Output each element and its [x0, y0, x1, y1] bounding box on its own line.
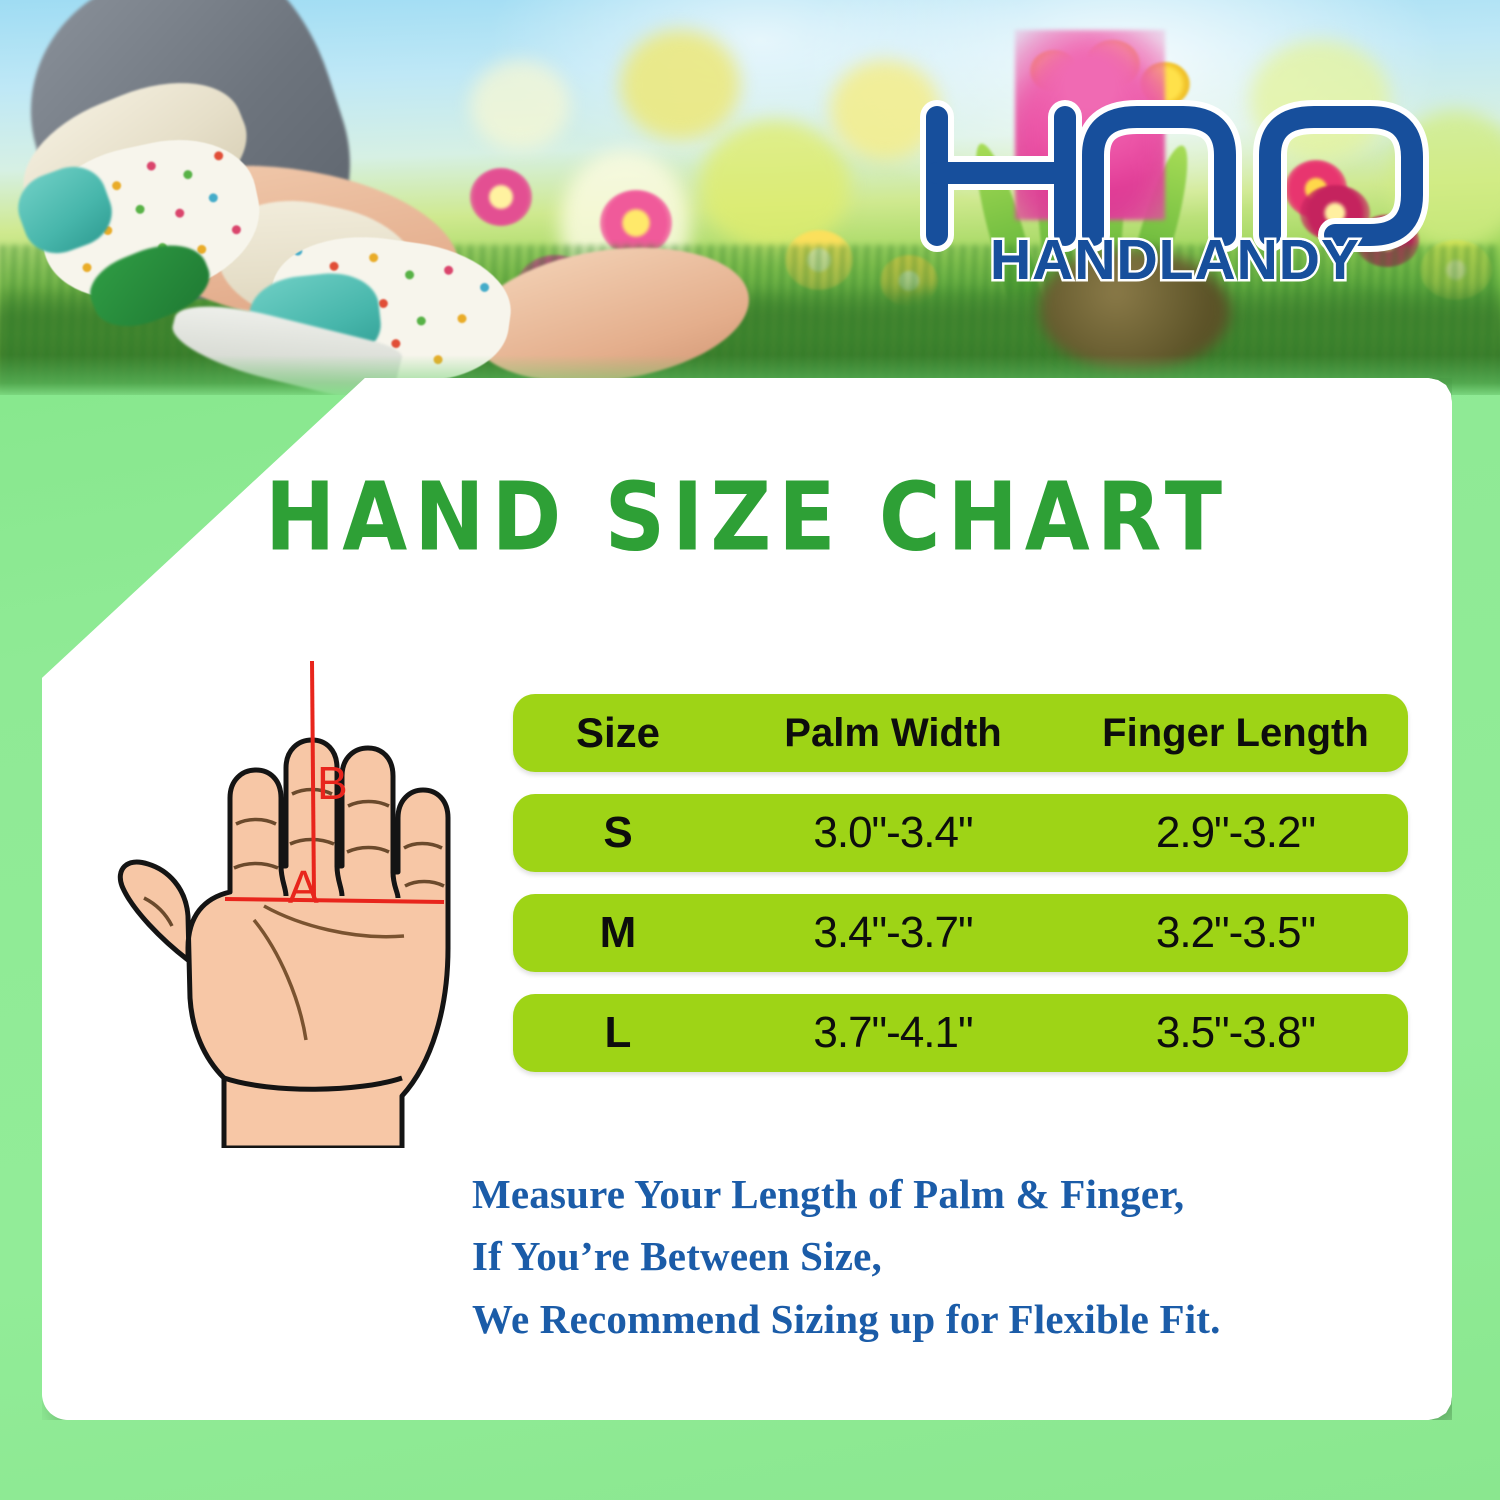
hand-size-chart-page: HANDLANDY HANDLANDY HAND SIZE CHART	[0, 0, 1500, 1500]
page-title: HAND SIZE CHART	[42, 462, 1452, 572]
hand-measurement-diagram: A B	[92, 648, 492, 1148]
cell-size: S	[513, 808, 723, 858]
logo-wordmark: HANDLANDY	[915, 227, 1435, 293]
label-b: B	[317, 756, 348, 810]
bokeh-blob	[470, 60, 570, 150]
cell-palm-width: 3.7"-4.1"	[723, 1008, 1063, 1058]
header-size: Size	[513, 709, 723, 757]
cell-size: M	[513, 908, 723, 958]
handlandy-logo: HANDLANDY HANDLANDY	[915, 95, 1435, 300]
note-line-2: If You’re Between Size,	[472, 1225, 1221, 1287]
cell-palm-width: 3.0"-3.4"	[723, 808, 1063, 858]
label-a: A	[288, 860, 319, 914]
sizing-note: Measure Your Length of Palm & Finger, If…	[472, 1163, 1221, 1350]
cell-palm-width: 3.4"-3.7"	[723, 908, 1063, 958]
cell-size: L	[513, 1008, 723, 1058]
header-finger-length: Finger Length	[1063, 711, 1408, 756]
table-header-row: Size Palm Width Finger Length	[513, 694, 1408, 772]
table-row: M 3.4"-3.7" 3.2"-3.5"	[513, 894, 1408, 972]
cell-finger-length: 3.2"-3.5"	[1063, 908, 1408, 958]
header-palm-width: Palm Width	[723, 711, 1063, 756]
note-line-3: We Recommend Sizing up for Flexible Fit.	[472, 1288, 1221, 1350]
cell-finger-length: 2.9"-3.2"	[1063, 808, 1408, 858]
cell-finger-length: 3.5"-3.8"	[1063, 1008, 1408, 1058]
bokeh-blob	[620, 30, 740, 140]
size-table: Size Palm Width Finger Length S 3.0"-3.4…	[513, 694, 1408, 1072]
primrose-icon	[470, 168, 532, 226]
note-line-1: Measure Your Length of Palm & Finger,	[472, 1163, 1221, 1225]
table-row: L 3.7"-4.1" 3.5"-3.8"	[513, 994, 1408, 1072]
table-row: S 3.0"-3.4" 2.9"-3.2"	[513, 794, 1408, 872]
